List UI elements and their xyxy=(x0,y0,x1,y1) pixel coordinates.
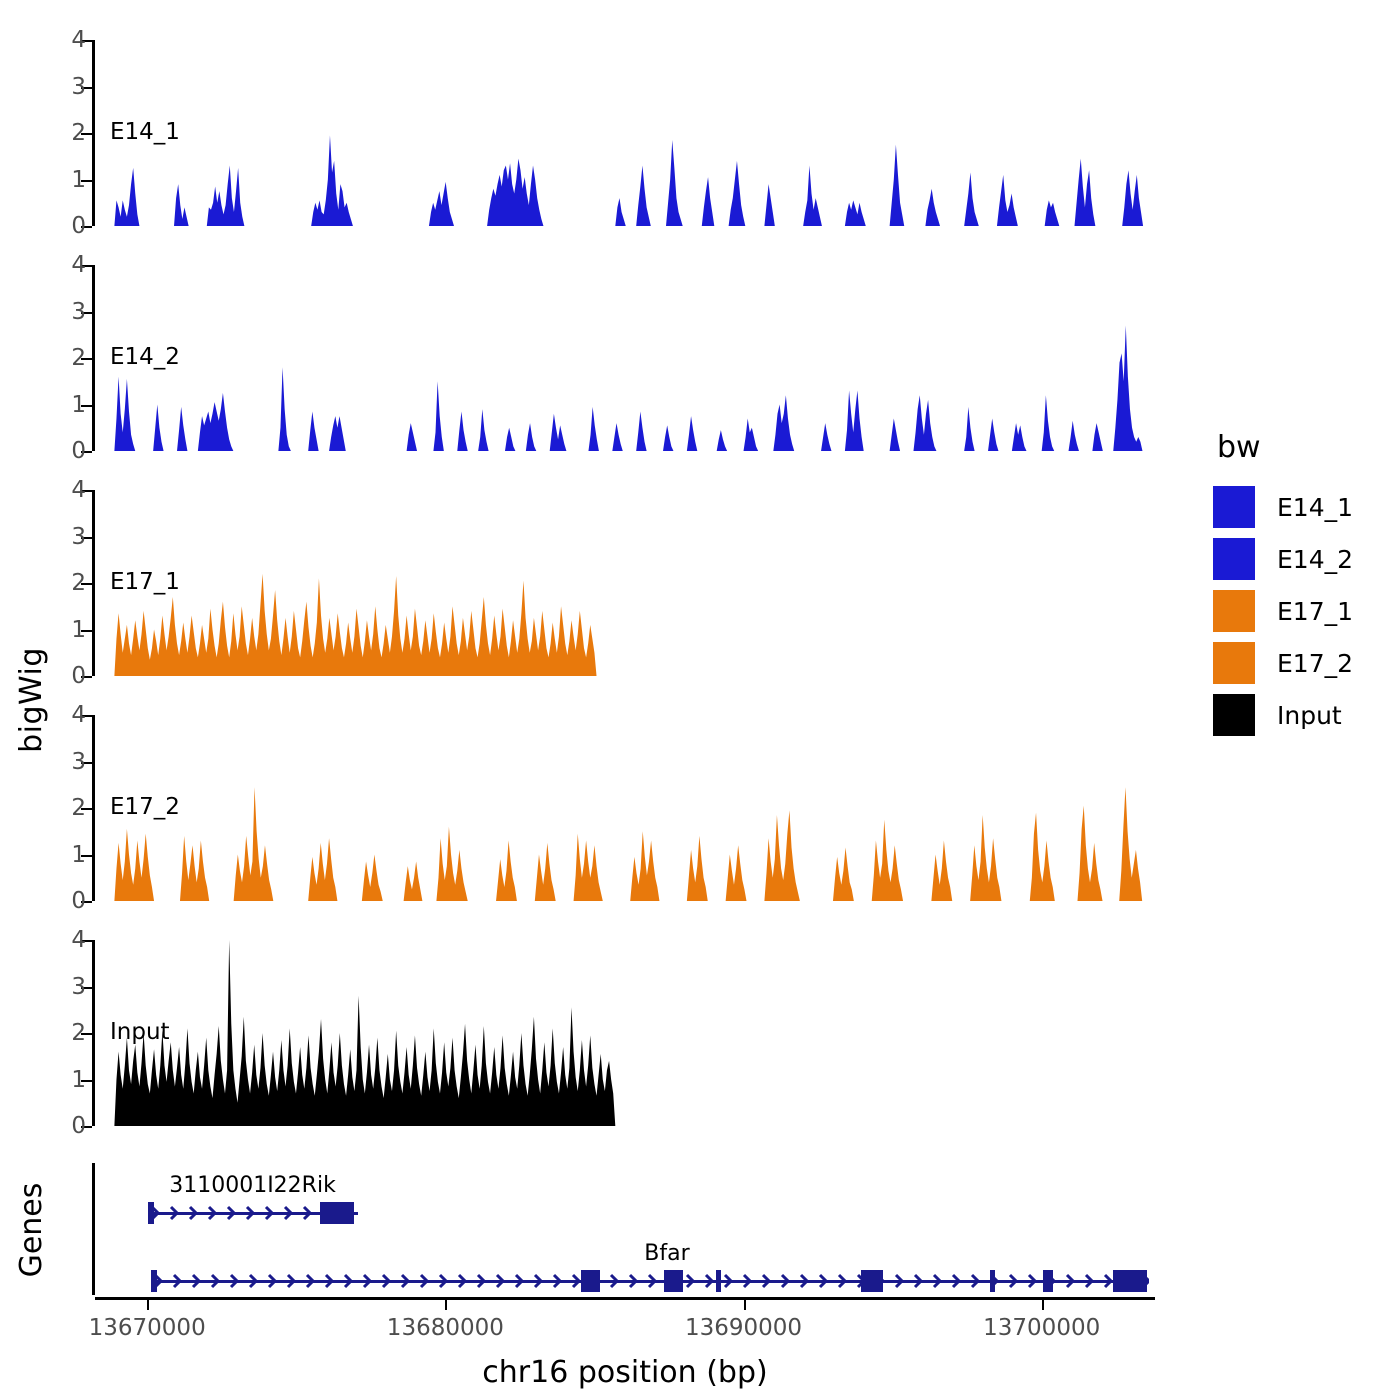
y-axis-title-genes: Genes xyxy=(14,1165,49,1295)
track-area-segment xyxy=(234,787,274,901)
track-area-segment xyxy=(114,940,615,1126)
track-area-segment xyxy=(890,418,900,451)
legend-title: bw xyxy=(1217,430,1261,465)
y-tick-label: 4 xyxy=(71,477,86,503)
track-area-segment xyxy=(764,184,774,226)
x-tick-label: 13670000 xyxy=(89,1315,206,1341)
gene-exon xyxy=(1113,1270,1147,1292)
legend-color-swatch xyxy=(1213,590,1255,632)
track-panel-input: 01234Input xyxy=(92,940,1155,1126)
y-tick-label: 2 xyxy=(71,570,86,596)
gene-exon xyxy=(990,1270,995,1292)
y-tick-label: 3 xyxy=(71,74,86,100)
track-area-segment xyxy=(964,173,979,226)
track-panel-e17_1: 01234E17_1 xyxy=(92,490,1155,676)
track-area-segment xyxy=(478,409,488,451)
track-area-segment xyxy=(404,861,423,901)
gene-exon xyxy=(320,1202,354,1224)
y-tick-label: 1 xyxy=(71,392,86,418)
track-area-segment xyxy=(773,395,794,451)
track-area-segment xyxy=(702,177,715,226)
track-area-segment xyxy=(114,574,596,676)
track-area-segment xyxy=(114,829,154,901)
x-axis-line xyxy=(95,1297,1155,1300)
gene-exon xyxy=(716,1270,721,1292)
track-area-segment xyxy=(913,395,936,451)
track-area-segment xyxy=(457,411,467,451)
genome-browser-figure: bigWig Genes 01234E14_101234E14_201234E1… xyxy=(0,0,1400,1400)
legend-color-swatch xyxy=(1213,642,1255,684)
track-area-segment xyxy=(278,367,291,451)
plot-area xyxy=(95,490,1155,676)
track-area-segment xyxy=(636,411,646,451)
track-area-segment xyxy=(925,189,940,226)
x-tick xyxy=(445,1300,447,1310)
track-area-segment xyxy=(687,836,708,901)
y-tick-label: 1 xyxy=(71,1067,86,1093)
genes-track: 3110001I22RikBfar xyxy=(92,1163,1155,1295)
y-tick-label: 2 xyxy=(71,795,86,821)
track-area-segment xyxy=(872,820,903,901)
track-area-segment xyxy=(729,161,746,226)
gene-exon xyxy=(861,1270,883,1292)
track-area-segment xyxy=(744,418,759,451)
track-area-segment xyxy=(1077,806,1102,901)
track-area-segment xyxy=(362,855,383,902)
y-tick-label: 0 xyxy=(71,888,86,914)
track-area-segment xyxy=(1113,325,1142,451)
track-area-segment xyxy=(1069,421,1079,451)
track-area-segment xyxy=(505,428,515,451)
gene-label-3110001i22rik: 3110001I22Rik xyxy=(169,1173,336,1198)
track-label-e14_2: E14_2 xyxy=(110,344,180,370)
track-label-input: Input xyxy=(110,1019,170,1045)
track-area-segment xyxy=(615,198,625,226)
track-area-segment xyxy=(988,418,998,451)
track-area-segment xyxy=(308,411,318,451)
track-area-segment xyxy=(535,843,556,901)
track-area-segment xyxy=(433,381,443,451)
track-area-segment xyxy=(308,838,337,901)
track-area-segment xyxy=(717,430,727,451)
track-area-segment xyxy=(612,423,622,451)
gene-exon xyxy=(151,1270,157,1292)
track-area-segment xyxy=(630,831,659,901)
y-tick-label: 3 xyxy=(71,749,86,775)
track-area-segment xyxy=(803,166,822,226)
track-area-segment xyxy=(114,377,135,451)
track-area-segment xyxy=(198,393,233,451)
x-tick xyxy=(147,1300,149,1310)
track-area-segment xyxy=(845,200,866,226)
legend-item-label: E17_2 xyxy=(1277,649,1353,678)
track-panel-e17_2: 01234E17_2 xyxy=(92,715,1155,901)
legend-item-e17_2[interactable]: E17_2 xyxy=(1213,642,1353,684)
track-area-segment xyxy=(329,416,346,451)
track-area-segment xyxy=(311,135,353,226)
y-tick-label: 3 xyxy=(71,524,86,550)
x-axis-title: chr16 position (bp) xyxy=(95,1355,1155,1390)
plot-area xyxy=(95,940,1155,1126)
track-area-segment xyxy=(687,416,697,451)
plot-area xyxy=(95,715,1155,901)
gene-strand-arrows xyxy=(151,1272,1148,1290)
track-area-segment xyxy=(821,423,831,451)
track-area-segment xyxy=(574,834,603,901)
legend-color-swatch xyxy=(1213,694,1255,736)
gene-exon xyxy=(148,1202,153,1224)
track-label-e14_1: E14_1 xyxy=(110,119,180,145)
track-area-segment xyxy=(1012,423,1027,451)
track-area-segment xyxy=(153,405,163,452)
gene-label-bfar: Bfar xyxy=(644,1241,689,1266)
legend-item-label: E14_1 xyxy=(1277,493,1353,522)
track-area-segment xyxy=(726,845,747,901)
y-tick-label: 1 xyxy=(71,167,86,193)
y-tick-label: 0 xyxy=(71,213,86,239)
track-area-segment xyxy=(1122,170,1143,226)
y-tick-label: 4 xyxy=(71,927,86,953)
track-area-segment xyxy=(666,140,683,226)
y-tick-label: 2 xyxy=(71,345,86,371)
track-area-segment xyxy=(526,423,536,451)
track-area-segment xyxy=(1030,813,1055,901)
track-area-segment xyxy=(890,145,905,226)
track-area-segment xyxy=(1092,423,1102,451)
track-area-segment xyxy=(496,841,517,901)
track-area-segment xyxy=(970,815,1001,901)
track-area-segment xyxy=(764,810,799,901)
x-tick-label: 13700000 xyxy=(983,1315,1100,1341)
x-tick xyxy=(1042,1300,1044,1310)
y-axis-title-bigwig: bigWig xyxy=(14,480,49,920)
track-area-segment xyxy=(487,159,543,226)
y-tick-label: 4 xyxy=(71,252,86,278)
track-panel-e14_1: 01234E14_1 xyxy=(92,40,1155,226)
track-area-segment xyxy=(636,166,651,226)
x-tick-label: 13690000 xyxy=(685,1315,802,1341)
plot-area xyxy=(95,40,1155,226)
track-area-segment xyxy=(550,414,567,451)
legend-item-label: E17_1 xyxy=(1277,597,1353,626)
x-tick-label: 13680000 xyxy=(387,1315,504,1341)
track-area-segment xyxy=(663,425,673,451)
y-tick-label: 1 xyxy=(71,617,86,643)
track-area-segment xyxy=(931,841,952,901)
track-area-segment xyxy=(1119,787,1142,901)
y-tick-label: 1 xyxy=(71,842,86,868)
track-panel-e14_2: 01234E14_2 xyxy=(92,265,1155,451)
track-area-segment xyxy=(588,407,598,451)
legend-item-label: Input xyxy=(1277,701,1342,730)
gene-exon xyxy=(1043,1270,1053,1292)
track-label-e17_2: E17_2 xyxy=(110,794,180,820)
y-tick-label: 4 xyxy=(71,702,86,728)
y-tick-label: 0 xyxy=(71,438,86,464)
legend-item-input[interactable]: Input xyxy=(1213,694,1342,736)
y-tick-label: 0 xyxy=(71,663,86,689)
track-area-segment xyxy=(964,407,974,451)
track-area-segment xyxy=(207,166,245,226)
track-label-e17_1: E17_1 xyxy=(110,569,180,595)
legend-item-e14_2[interactable]: E14_2 xyxy=(1213,538,1353,580)
track-area-segment xyxy=(1074,159,1095,226)
track-area-segment xyxy=(1045,200,1060,226)
genes-plot-area: 3110001I22RikBfar xyxy=(95,1163,1155,1295)
y-tick-label: 3 xyxy=(71,974,86,1000)
y-tick-label: 2 xyxy=(71,120,86,146)
track-area-segment xyxy=(845,391,864,451)
legend-color-swatch xyxy=(1213,486,1255,528)
plot-area xyxy=(95,265,1155,451)
track-area-segment xyxy=(174,184,189,226)
track-area-segment xyxy=(833,848,854,901)
track-area-segment xyxy=(177,407,187,451)
y-tick-label: 2 xyxy=(71,1020,86,1046)
track-area-segment xyxy=(1042,395,1055,451)
legend-item-e17_1[interactable]: E17_1 xyxy=(1213,590,1353,632)
x-tick xyxy=(744,1300,746,1310)
legend-item-e14_1[interactable]: E14_1 xyxy=(1213,486,1353,528)
y-tick-label: 0 xyxy=(71,1113,86,1139)
track-area-segment xyxy=(997,175,1018,226)
track-area-segment xyxy=(180,836,209,901)
gene-exon xyxy=(664,1270,683,1292)
gene-exon xyxy=(581,1270,600,1292)
y-tick-label: 4 xyxy=(71,27,86,53)
track-area-segment xyxy=(114,168,139,226)
legend-item-label: E14_2 xyxy=(1277,545,1353,574)
track-area-segment xyxy=(407,423,417,451)
track-area-segment xyxy=(436,827,467,901)
y-tick-label: 3 xyxy=(71,299,86,325)
track-area-segment xyxy=(429,182,454,226)
legend-color-swatch xyxy=(1213,538,1255,580)
